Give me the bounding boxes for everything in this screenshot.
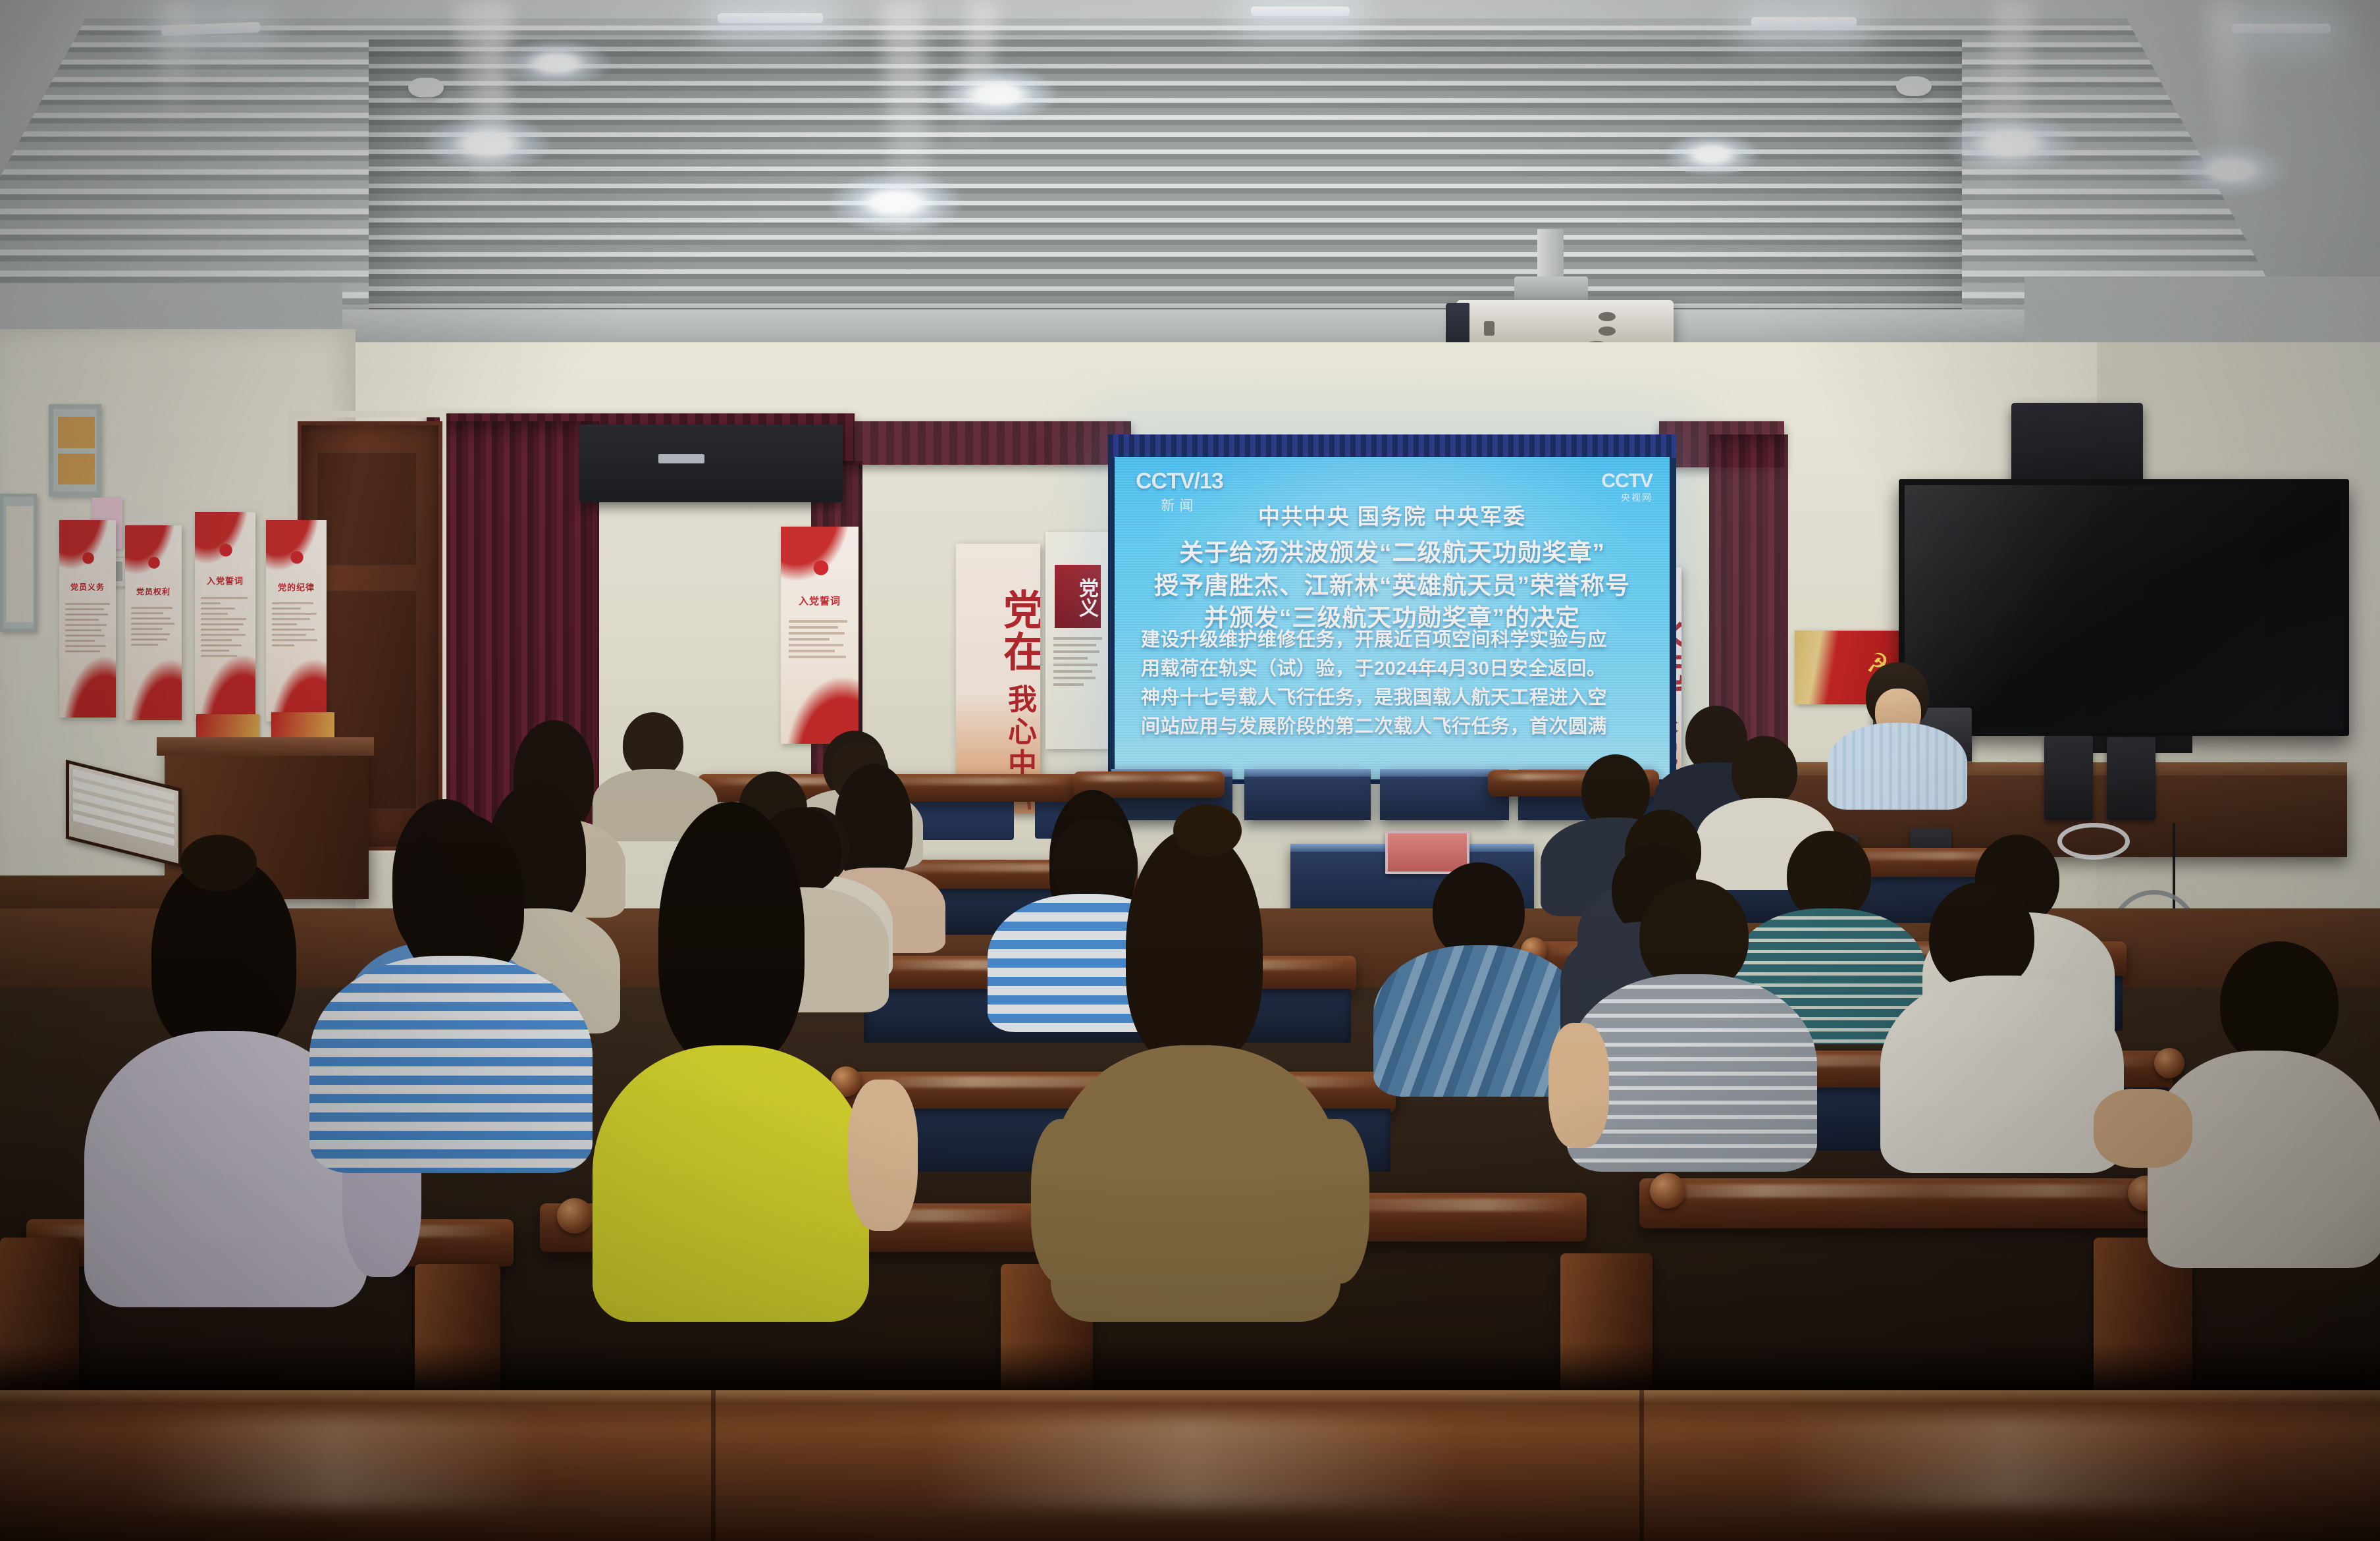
ceiling-light [2232,24,2331,34]
pew-armrest-knob [1650,1173,1685,1209]
bench-seam [1639,1390,1644,1541]
party-constitution-poster: 党义 [1045,532,1109,749]
cctv-web-label: CCTV [1601,470,1653,492]
desktop-speaker [2044,736,2093,820]
ceiling-light [1251,7,1350,16]
headline-org: 中共中央 国务院 中央军委 [1115,499,1670,531]
wall-notice-frame [0,494,37,632]
banner-left-big: 党在 [997,588,1040,673]
banner-left-small: 我心中 [1003,684,1036,781]
body-line-1: 建设升级维护维修任务，开展近百项空间科学实验与应 [1141,625,1643,654]
bench-highlight [922,1415,1462,1507]
broadcast-body-text: 建设升级维护维修任务，开展近百项空间科学实验与应 用载荷在轨实（试）验，于202… [1141,625,1643,741]
body-line-4: 间站应用与发展阶段的第二次载人飞行任务，首次圆满 [1141,712,1643,741]
speaker-brand-label [658,454,704,463]
bench-highlight [1778,1415,2238,1507]
ceiling-downlight [935,66,1060,122]
presenter-shirt [1828,723,1967,810]
party-poster: 党员权利 [125,525,182,720]
party-poster: 党的纪律 [266,520,327,721]
wall-speaker [579,425,843,502]
pew-armrest-knob [557,1198,593,1234]
ceiling-recessed-panel [369,39,1962,316]
poster-title: 入党誓词 [199,574,250,587]
poster-title: 党员义务 [64,581,111,592]
smoke-detector-icon [408,78,444,97]
bench-highlight [132,1415,540,1507]
poster-title: 党员权利 [130,586,177,597]
broadcast-headline: 中共中央 国务院 中央军委 关于给汤洪波颁发“二级航天功勋奖章” 授予唐胜杰、江… [1115,499,1670,635]
projector-mount-pole [1537,229,1564,283]
party-poster: 党员义务 [59,520,116,718]
wall-notice-frame [49,404,101,496]
headline-line-1: 关于给汤洪波颁发“二级航天功勋奖章” [1115,536,1670,569]
wall-mounted-tv [1899,479,2349,736]
body-line-3: 神舟十七号载人飞行任务，是我国载人航天工程进入空 [1141,683,1643,712]
lectern-top [157,737,374,756]
ceiling-light [1751,17,1857,27]
honor-plaque [271,712,334,740]
banner-party-in-my-heart: 党在 我心中 [956,544,1040,814]
projection-screen: CCTV/13 新闻 CCTV 央视网 中共中央 国务院 中央军委 关于给汤洪波… [1115,457,1670,779]
poster-title: 党的纪律 [271,581,321,593]
party-poster: 入党誓词 [781,527,859,744]
meeting-room-photo: 党员义务 党员权利 入党誓词 [0,0,2380,1541]
foreground-bench-lip [0,1390,2380,1403]
pew-bench[interactable] [1639,1178,2166,1228]
pew-armrest-knob [2154,1048,2184,1078]
ceiling-downlight [1662,132,1761,178]
ceiling-downlight [500,38,612,88]
body-line-2: 用载荷在轨实（试）验，于2024年4月30日安全返回。 [1141,654,1643,683]
ceiling-light [718,13,823,23]
poster-title: 党义 [1055,565,1101,628]
bench-seam [711,1390,716,1541]
curtain-pelmet [855,421,1131,465]
desktop-speaker [2107,737,2155,820]
smoke-detector-icon [1896,76,1932,96]
foreground-shadow [0,1343,2380,1394]
cctv-channel-label: CCTV/13 [1136,469,1223,494]
screen-valance [1108,434,1676,458]
party-poster: 入党誓词 [195,512,255,719]
headline-line-2: 授予唐胜杰、江新林“英雄航天员”荣誉称号 [1115,569,1670,602]
webcam-ring-icon [2057,823,2130,860]
front-table [1244,769,1371,820]
